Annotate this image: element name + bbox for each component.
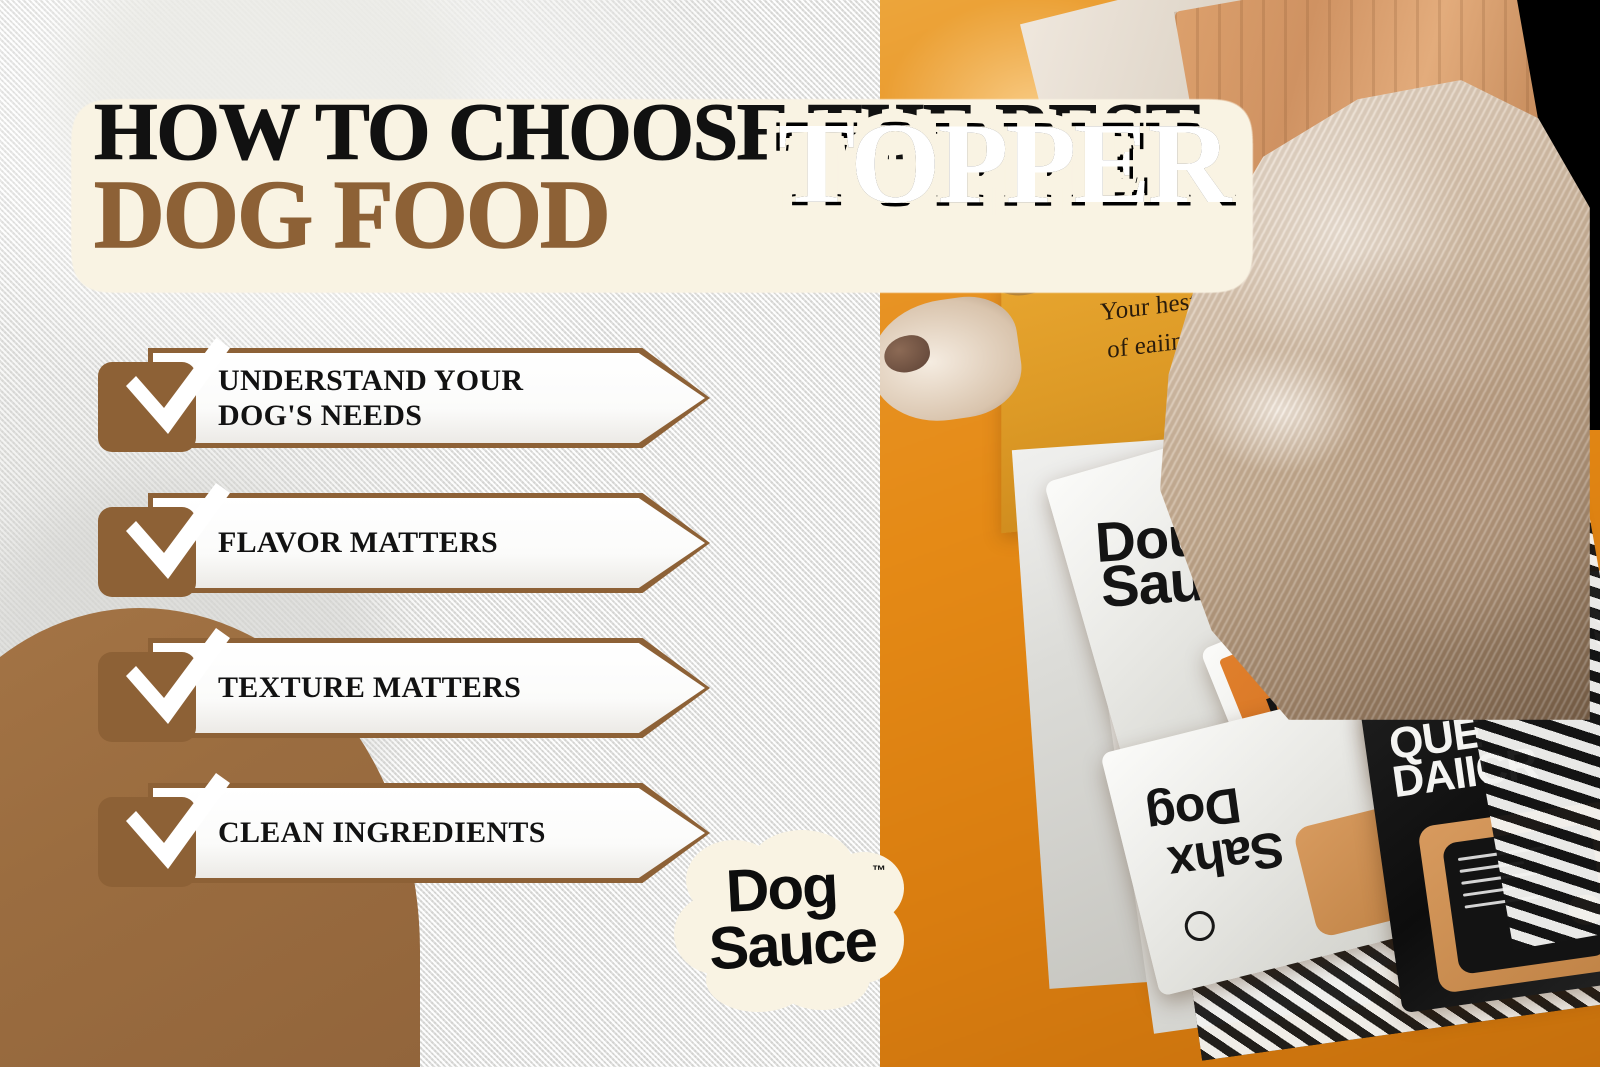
checklist-item[interactable]: CLEAN INGREDIENTS bbox=[98, 783, 718, 883]
checklist-item[interactable]: TEXTURE MATTERS bbox=[98, 638, 718, 738]
poster-canvas: Your hest friend is tned of eaiing nlond… bbox=[0, 0, 1600, 1067]
logo-wordmark: Dog Sauce bbox=[672, 822, 908, 1012]
page-title: HOW TO CHOOSE THE BEST DOG FOOD TOPPER T… bbox=[66, 92, 1266, 262]
checklist-label-2: FLAVOR MATTERS bbox=[218, 493, 618, 593]
checklist-item[interactable]: UNDERSTAND YOUR DOG'S NEEDS bbox=[98, 348, 718, 448]
checklist-item[interactable]: FLAVOR MATTERS bbox=[98, 493, 718, 593]
dog-sauce-logo[interactable]: Dog Sauce ™ bbox=[672, 822, 908, 1012]
pouch-brand-word: Sahx bbox=[1166, 827, 1287, 887]
checklist-label-4: CLEAN INGREDIENTS bbox=[218, 783, 618, 883]
title-topper: TOPPER bbox=[778, 110, 1228, 219]
checklist: UNDERSTAND YOUR DOG'S NEEDS FLAVOR MATTE… bbox=[98, 348, 718, 928]
title-line-2: DOG FOOD TOPPER TOPPER bbox=[66, 168, 1266, 262]
checklist-label-3: TEXTURE MATTERS bbox=[218, 638, 618, 738]
logo-word-sauce: Sauce bbox=[707, 915, 876, 975]
checkbox-3[interactable] bbox=[98, 652, 196, 742]
checklist-label-1: UNDERSTAND YOUR DOG'S NEEDS bbox=[218, 348, 618, 448]
checkbox-2[interactable] bbox=[98, 507, 196, 597]
pouch-seal-icon bbox=[1182, 908, 1218, 944]
checkbox-4[interactable] bbox=[98, 797, 196, 887]
trademark-symbol: ™ bbox=[872, 862, 886, 878]
title-dog-food: DOG FOOD bbox=[94, 168, 609, 262]
checkbox-1[interactable] bbox=[98, 362, 196, 452]
